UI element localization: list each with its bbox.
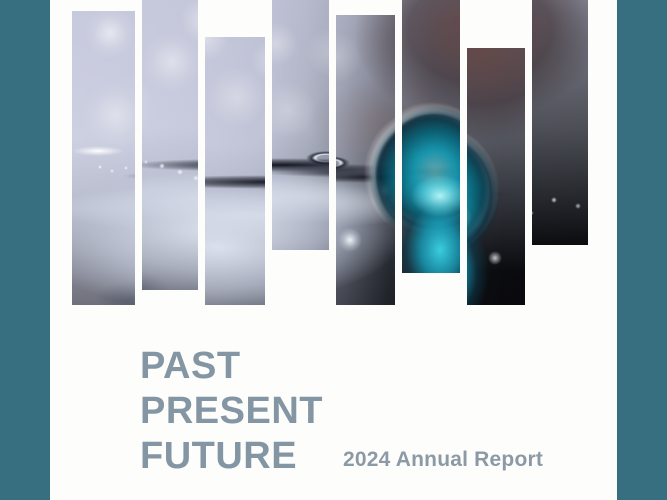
photo-strip-image bbox=[336, 15, 395, 305]
sliced-photo-collage bbox=[50, 0, 617, 320]
left-accent-band bbox=[0, 0, 50, 500]
photo-strip-image bbox=[72, 11, 135, 305]
photo-strip-image bbox=[467, 48, 525, 305]
photo-strip-image bbox=[272, 0, 329, 250]
right-accent-band bbox=[617, 0, 667, 500]
title-line-future: FUTURE bbox=[140, 434, 323, 479]
photo-strip bbox=[467, 48, 525, 305]
photo-strip-image bbox=[402, 0, 460, 273]
title-line-present: PRESENT bbox=[140, 389, 323, 434]
report-cover-page: PAST PRESENT FUTURE 2024 Annual Report bbox=[0, 0, 667, 500]
page-title: PAST PRESENT FUTURE bbox=[140, 344, 323, 479]
photo-strip-image bbox=[142, 0, 198, 290]
photo-strip bbox=[336, 15, 395, 305]
photo-strip bbox=[142, 0, 198, 290]
photo-strip bbox=[205, 37, 265, 305]
photo-strip bbox=[532, 0, 588, 245]
photo-strip-image bbox=[205, 37, 265, 305]
title-line-past: PAST bbox=[140, 344, 323, 389]
photo-strip bbox=[72, 11, 135, 305]
photo-strip bbox=[402, 0, 460, 273]
photo-strip bbox=[272, 0, 329, 250]
photo-strip-image bbox=[532, 0, 588, 245]
report-subtitle: 2024 Annual Report bbox=[343, 448, 543, 472]
page-sheet: PAST PRESENT FUTURE 2024 Annual Report bbox=[50, 0, 617, 500]
